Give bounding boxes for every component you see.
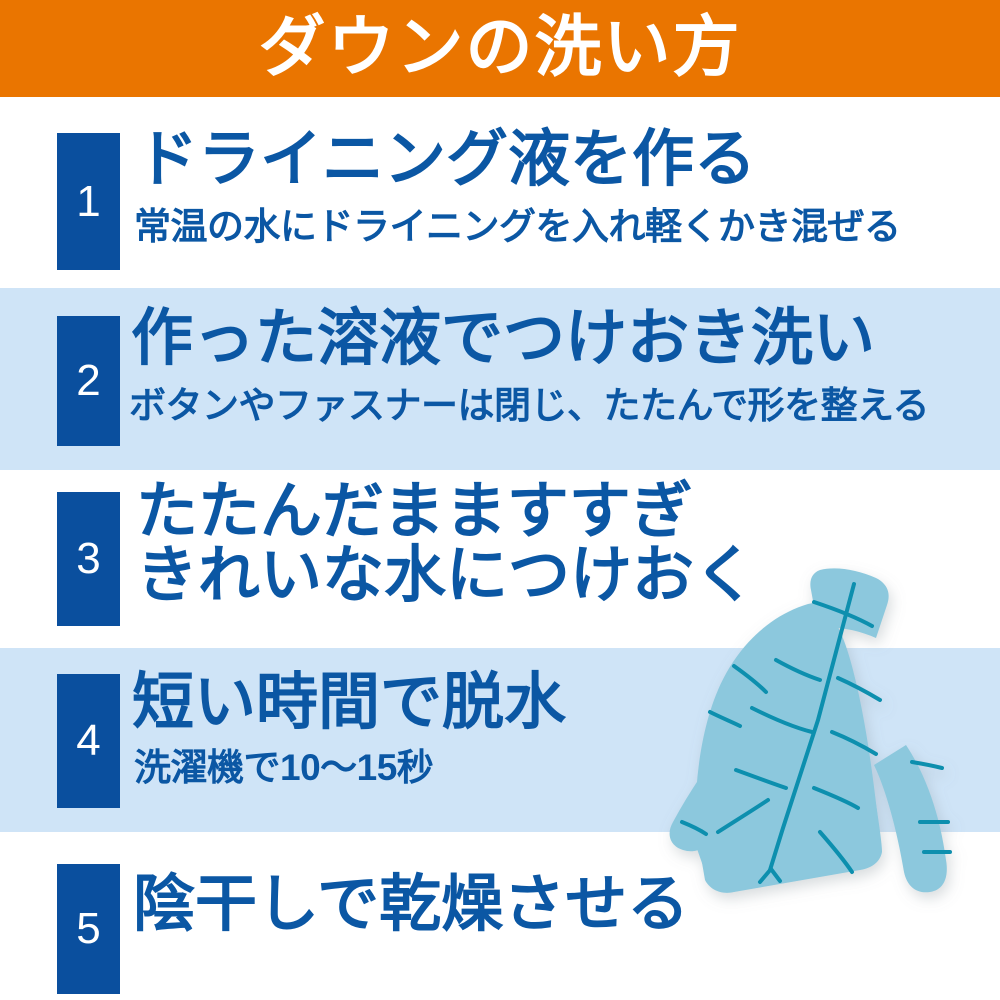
step-headline-5: 陰干しで乾燥させる [133,872,689,939]
step-row-2: 2 作った溶液でつけおき洗い ボタンやファスナーは閉じ、たたんで形を整える [0,288,1000,470]
page-title: ダウンの洗い方 [259,14,742,81]
step-subtitle-2: ボタンやファスナーは閉じ、たたんで形を整える [129,386,929,427]
header-bar: ダウンの洗い方 [0,0,1000,97]
step-headline-4: 短い時間で脱水 [132,670,566,737]
step-subtitle-4: 洗濯機で10〜15秒 [134,748,433,789]
infographic-poster: ダウンの洗い方 1 ドライニング液を作る 常温の水にドライニングを入れ軽くかき混… [0,0,1000,1000]
step-number-badge-4: 4 [57,674,120,808]
step-number-badge-3: 3 [57,492,120,626]
step-number-badge-5: 5 [57,864,120,994]
step-number-badge-1: 1 [57,133,120,270]
step-row-5: 5 陰干しで乾燥させる [0,832,1000,1000]
step-row-3: 3 たたんだまますすぎ きれいな水につけおく [0,470,1000,648]
step-headline-3-line1: たたんだまますすぎ [136,480,756,544]
step-row-4: 4 短い時間で脱水 洗濯機で10〜15秒 [0,648,1000,832]
step-subtitle-1: 常温の水にドライニングを入れ軽くかき混ぜる [134,207,901,248]
step-row-1: 1 ドライニング液を作る 常温の水にドライニングを入れ軽くかき混ぜる [0,97,1000,288]
step-number-badge-2: 2 [57,316,120,446]
step-headline-2: 作った溶液でつけおき洗い [131,306,875,373]
step-headline-1: ドライニング液を作る [136,127,756,194]
step-headline-3-line2: きれいな水につけおく [136,544,756,608]
step-headline-3: たたんだまますすぎ きれいな水につけおく [136,480,756,609]
